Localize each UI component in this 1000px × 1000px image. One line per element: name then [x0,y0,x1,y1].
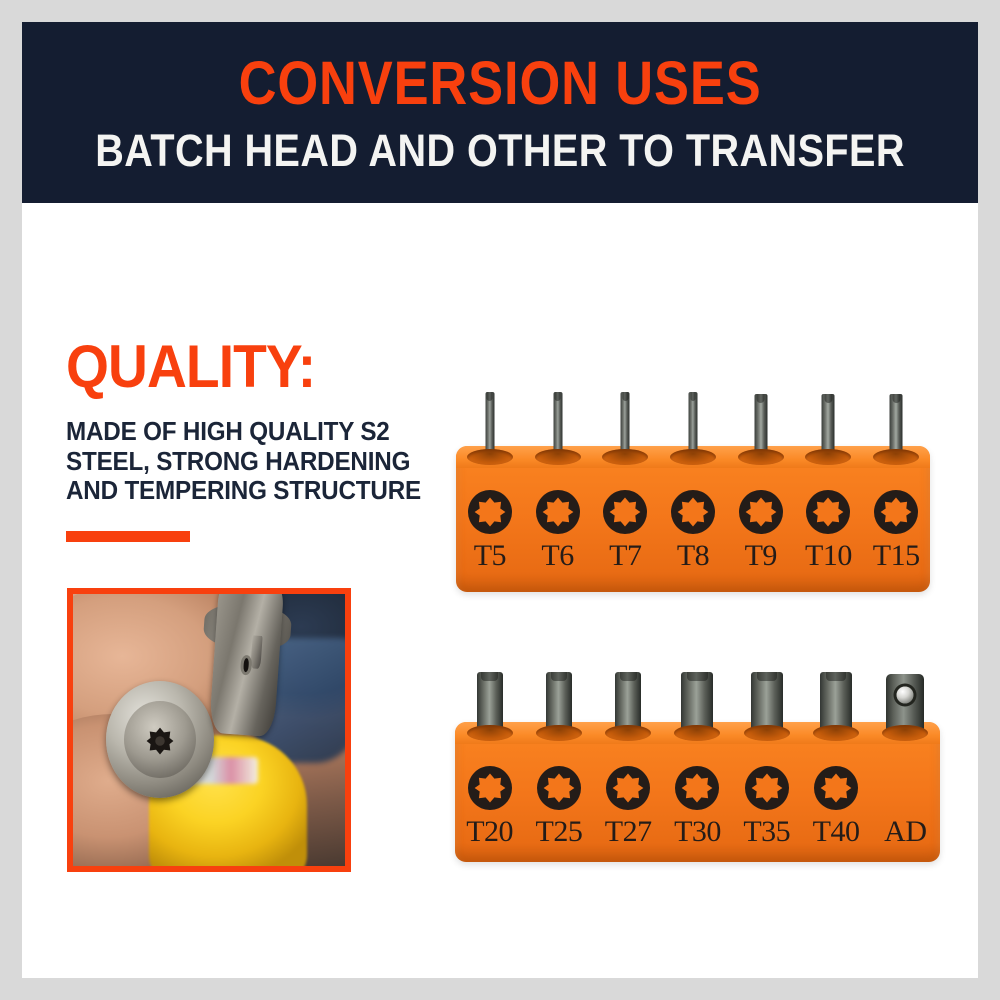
bit-size-label: T10 [805,541,852,571]
bit-tip-flutes [620,672,637,681]
bit-tip-flutes [687,672,708,681]
torx-star-icon [671,490,715,534]
bit-tip-flutes [892,394,900,403]
bit-slot-t25: T25 [524,722,593,862]
bit-slot-t8: T8 [659,446,727,592]
header-banner: CONVERSION USES BATCH HEAD AND OTHER TO … [22,22,978,203]
bit-slot-t5: T5 [456,446,524,592]
socket-hole [467,449,513,465]
bit-size-label: T20 [466,817,513,847]
torx-star-icon [537,766,581,810]
torx-star-icon [468,490,512,534]
bit-slot-t35: T35 [732,722,801,862]
socket-hole [670,449,716,465]
bit-slot-t27: T27 [594,722,663,862]
socket-hole [674,725,720,741]
socket-hole [813,725,859,741]
photo-security-screw [106,681,215,798]
photo-bit-tip [250,635,263,669]
bit-tip-flutes [757,672,778,681]
torx-star-icon [745,766,789,810]
photo-torx-bit [209,594,285,738]
bit-size-label: AD [884,817,926,847]
socket-hole [882,725,928,741]
bit-size-label: T35 [743,817,790,847]
torx-star-icon [806,490,850,534]
product-photo [67,588,351,872]
socket-hole [744,725,790,741]
torx-star-icon [603,490,647,534]
bit-tip-flutes [481,672,498,681]
photo-screw-face [124,701,196,778]
socket-hole [605,725,651,741]
bit-slot-t15: T15 [862,446,930,592]
bit-size-label: T40 [813,817,860,847]
bit-size-label: T15 [873,541,920,571]
torx-star-icon [536,490,580,534]
bit-size-label: T6 [541,541,573,571]
quality-heading: QUALITY: [66,337,425,397]
torx-star-icon [739,490,783,534]
bit-size-label: T9 [745,541,777,571]
socket-hole [467,725,513,741]
bit-slot-t40: T40 [801,722,870,862]
bit-slot-t7: T7 [591,446,659,592]
bit-size-label: T8 [677,541,709,571]
photo-image [73,594,345,866]
bottom-holder: T20T25T27T30T35T40AD [455,722,940,862]
socket-hole [738,449,784,465]
socket-hole [805,449,851,465]
bit-tip-flutes [757,394,765,403]
ball-detent-icon [897,687,914,704]
bit-tip-flutes [555,392,561,401]
bit-tip-flutes [824,394,832,403]
socket-hole [535,449,581,465]
page-title: CONVERSION USES [238,53,761,114]
torx-star-icon [814,766,858,810]
torx-socket-icon [144,724,176,758]
bit-size-label: T27 [605,817,652,847]
product-infographic: CONVERSION USES BATCH HEAD AND OTHER TO … [0,0,1000,1000]
bit-slot-t30: T30 [663,722,732,862]
torx-star-icon [675,766,719,810]
bit-slot-t20: T20 [455,722,524,862]
bit-slot-t10: T10 [795,446,863,592]
bit-size-label: T7 [609,541,641,571]
bit-slot-ad: AD [871,722,940,862]
photo-bit-pin-hole-icon [243,658,250,672]
accent-divider [66,531,190,542]
bit-slot-t9: T9 [727,446,795,592]
torx-star-icon [874,490,918,534]
socket-hole [873,449,919,465]
bit-size-label: T5 [474,541,506,571]
socket-hole [602,449,648,465]
bit-slot-t6: T6 [524,446,592,592]
bit-size-label: T30 [674,817,721,847]
page-subtitle: BATCH HEAD AND OTHER TO TRANSFER [95,128,905,173]
quality-description: MADE OF HIGH QUALITY S2 STEEL, STRONG HA… [66,418,446,507]
top-holder-cells: T5T6T7T8T9T10T15 [456,446,930,592]
bit-tip-flutes [826,672,847,681]
socket-hole [536,725,582,741]
bit-size-label: T25 [536,817,583,847]
quality-block: QUALITY: MADE OF HIGH QUALITY S2 STEEL, … [66,337,456,507]
bit-tip-flutes [622,392,628,401]
bottom-holder-cells: T20T25T27T30T35T40AD [455,722,940,862]
bit-tip-flutes [551,672,568,681]
torx-star-icon [468,766,512,810]
bit-tip-flutes [487,392,493,401]
bit-tip-flutes [690,392,696,401]
top-holder: T5T6T7T8T9T10T15 [456,446,930,592]
torx-star-icon [606,766,650,810]
